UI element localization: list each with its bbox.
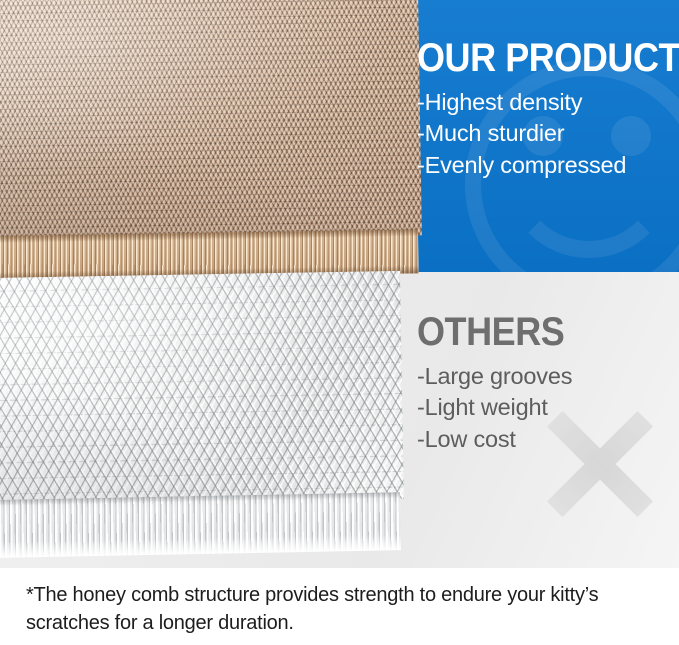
footer-note-area: *The honey comb structure provides stren… bbox=[0, 568, 679, 645]
our-product-bullet-1: -Highest density bbox=[417, 87, 667, 118]
product-photo-area: OUR PRODUCT -Highest density -Much sturd… bbox=[0, 0, 679, 568]
gray-mat-fringed-edge bbox=[0, 492, 401, 558]
others-text-block: OTHERS -Large grooves -Light weight -Low… bbox=[417, 312, 667, 455]
others-bullet-1: -Large grooves bbox=[417, 361, 667, 392]
our-product-heading: OUR PRODUCT bbox=[417, 38, 642, 78]
our-product-bullet-3: -Evenly compressed bbox=[417, 150, 667, 181]
footer-note: *The honey comb structure provides stren… bbox=[26, 582, 657, 637]
others-bullet-2: -Light weight bbox=[417, 392, 667, 423]
others-bullet-3: -Low cost bbox=[417, 424, 667, 455]
tan-honeycomb-cardboard-mat bbox=[0, 0, 422, 242]
others-heading: OTHERS bbox=[417, 312, 642, 352]
our-product-bullet-2: -Much sturdier bbox=[417, 118, 667, 149]
gray-large-groove-mat bbox=[0, 271, 404, 506]
our-product-text-block: OUR PRODUCT -Highest density -Much sturd… bbox=[417, 38, 667, 181]
our-product-bullet-list: -Highest density -Much sturdier -Evenly … bbox=[417, 87, 667, 181]
infographic-canvas: OUR PRODUCT -Highest density -Much sturd… bbox=[0, 0, 679, 645]
others-bullet-list: -Large grooves -Light weight -Low cost bbox=[417, 361, 667, 455]
